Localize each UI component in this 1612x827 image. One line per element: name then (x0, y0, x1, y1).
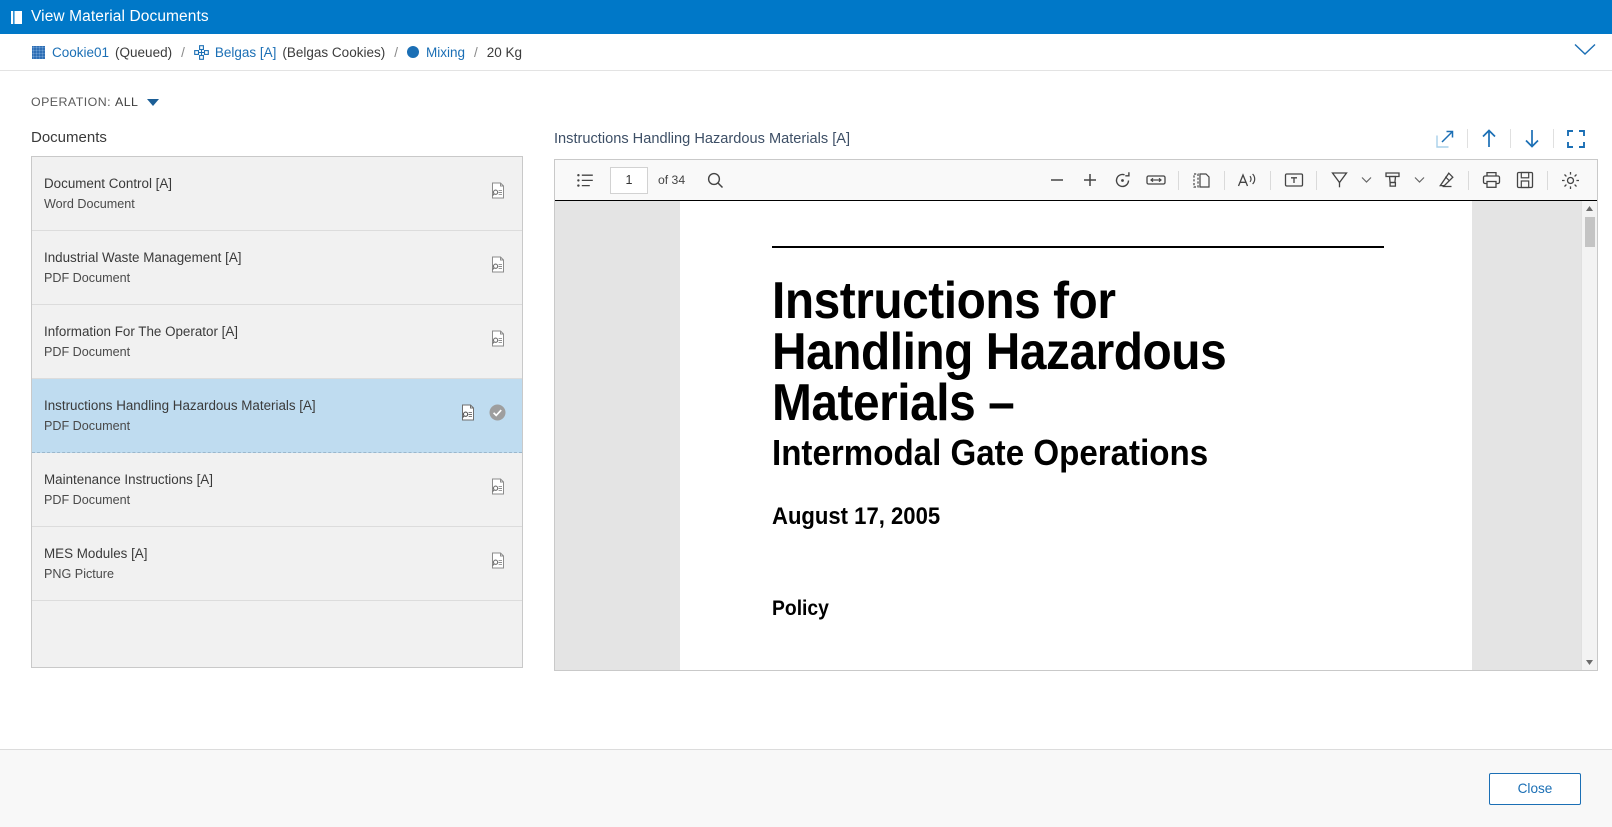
divider (1316, 171, 1317, 190)
scrollbar[interactable] (1581, 201, 1597, 670)
breadcrumb-item-bom[interactable]: Belgas [A] (Belgas Cookies) (194, 45, 385, 60)
documents-panel: Documents Document Control [A] Word Docu… (31, 129, 523, 671)
document-preview-icon[interactable] (460, 404, 476, 426)
eraser-icon[interactable] (1429, 165, 1462, 196)
pdf-viewer: of 34 (554, 159, 1598, 671)
divider (1224, 171, 1225, 190)
scroll-up-icon[interactable] (1585, 201, 1594, 216)
documents-panel-title: Documents (31, 129, 523, 146)
zoom-out-icon[interactable] (1040, 165, 1073, 196)
open-external-icon[interactable] (1423, 130, 1467, 148)
document-preview-icon[interactable] (490, 330, 506, 352)
read-aloud-icon[interactable] (1231, 165, 1264, 196)
caret-down-icon[interactable] (147, 99, 159, 106)
breadcrumb-separator-1: / (181, 45, 185, 60)
document-name: Document Control [A] (44, 176, 490, 191)
breadcrumb-link-bom[interactable]: Belgas [A] (215, 45, 277, 60)
list-item[interactable]: Information For The Operator [A] PDF Doc… (32, 305, 522, 379)
rotate-icon[interactable] (1106, 165, 1139, 196)
document-type: PDF Document (44, 271, 490, 285)
fullscreen-icon[interactable] (1554, 130, 1598, 148)
document-name: Information For The Operator [A] (44, 324, 490, 339)
document-name: Instructions Handling Hazardous Material… (44, 398, 460, 413)
document-preview-icon[interactable] (490, 478, 506, 500)
pdf-subheading: Intermodal Gate Operations (772, 435, 1361, 471)
scrollbar-thumb[interactable] (1585, 217, 1595, 247)
list-item[interactable]: Document Control [A] Word Document (32, 157, 522, 231)
bom-structure-icon (194, 45, 209, 60)
pdf-date: August 17, 2005 (772, 503, 1361, 531)
scroll-down-icon[interactable] (1585, 655, 1594, 670)
operation-dot-icon (407, 46, 419, 58)
document-type: Word Document (44, 197, 490, 211)
page-total-label: of 34 (658, 173, 685, 187)
arrow-down-icon[interactable] (1511, 129, 1553, 148)
pdf-heading-line-2: Handling Hazardous (772, 327, 1361, 378)
pdf-page: Instructions for Handling Hazardous Mate… (680, 201, 1472, 670)
page-title: Instructions Handling Hazardous Material… (554, 131, 1423, 147)
divider (1270, 171, 1271, 190)
save-icon[interactable] (1508, 165, 1541, 196)
add-text-icon[interactable] (1277, 165, 1310, 196)
document-type: PDF Document (44, 419, 460, 433)
document-name: Maintenance Instructions [A] (44, 472, 490, 487)
breadcrumb-status-material: (Queued) (115, 45, 172, 60)
window-title-bar: View Material Documents (0, 0, 1612, 34)
material-square-icon (32, 46, 45, 59)
highlight-color-chevron-icon[interactable] (1409, 165, 1429, 196)
pdf-toolbar: of 34 (555, 160, 1597, 201)
document-type: PDF Document (44, 345, 490, 359)
settings-gear-icon[interactable] (1554, 165, 1587, 196)
breadcrumb-item-operation[interactable]: Mixing (407, 45, 465, 60)
document-type: PDF Document (44, 493, 490, 507)
document-preview-icon[interactable] (490, 182, 506, 204)
document-icon (10, 10, 24, 25)
chevron-down-icon[interactable] (1574, 43, 1596, 61)
list-item[interactable]: Industrial Waste Management [A] PDF Docu… (32, 231, 522, 305)
document-type: PNG Picture (44, 567, 490, 581)
list-item[interactable]: MES Modules [A] PNG Picture (32, 527, 522, 601)
operation-filter[interactable]: OPERATION: ALL (0, 71, 1612, 109)
list-item[interactable]: Instructions Handling Hazardous Material… (32, 379, 522, 453)
operation-filter-value: ALL (115, 95, 138, 109)
main-content: Documents Document Control [A] Word Docu… (0, 129, 1612, 671)
viewer-panel: Instructions Handling Hazardous Material… (554, 129, 1598, 671)
breadcrumb-quantity: 20 Kg (487, 45, 522, 60)
divider (1547, 171, 1548, 190)
breadcrumb-link-operation[interactable]: Mixing (426, 45, 465, 60)
fit-to-width-icon[interactable] (1139, 165, 1172, 196)
breadcrumb: Cookie01 (Queued) / Belgas [A] (Belgas C… (0, 34, 1612, 71)
pdf-page-area[interactable]: Instructions for Handling Hazardous Mate… (555, 201, 1597, 670)
dialog-footer: Close (0, 749, 1612, 827)
operation-filter-label: OPERATION: (31, 95, 111, 109)
breadcrumb-item-quantity: 20 Kg (487, 45, 522, 60)
breadcrumb-link-material[interactable]: Cookie01 (52, 45, 109, 60)
document-name: Industrial Waste Management [A] (44, 250, 490, 265)
page-number-input[interactable] (610, 167, 648, 194)
list-item[interactable]: Maintenance Instructions [A] PDF Documen… (32, 453, 522, 527)
pdf-horizontal-rule (772, 246, 1384, 248)
check-circle-icon (489, 404, 506, 426)
pdf-section-heading: Policy (772, 597, 1361, 621)
breadcrumb-item-material[interactable]: Cookie01 (Queued) (32, 45, 172, 60)
breadcrumb-desc-bom: (Belgas Cookies) (282, 45, 385, 60)
pdf-heading-line-1: Instructions for (772, 276, 1361, 327)
search-icon[interactable] (699, 165, 732, 196)
viewer-header-actions (1423, 129, 1598, 148)
breadcrumb-separator-3: / (474, 45, 478, 60)
highlighter-icon[interactable] (1376, 165, 1409, 196)
window-title: View Material Documents (31, 8, 209, 26)
document-name: MES Modules [A] (44, 546, 490, 561)
document-preview-icon[interactable] (490, 256, 506, 278)
print-icon[interactable] (1475, 165, 1508, 196)
page-view-icon[interactable] (1185, 165, 1218, 196)
pdf-heading-line-3: Materials – (772, 378, 1361, 429)
viewer-header: Instructions Handling Hazardous Material… (554, 129, 1598, 148)
breadcrumb-separator-2: / (394, 45, 398, 60)
documents-list[interactable]: Document Control [A] Word Document Indus… (31, 156, 523, 668)
arrow-up-icon[interactable] (1468, 129, 1510, 148)
zoom-in-icon[interactable] (1073, 165, 1106, 196)
divider (1178, 171, 1179, 190)
table-of-contents-icon[interactable] (569, 165, 602, 196)
divider (1468, 171, 1469, 190)
document-preview-icon[interactable] (490, 552, 506, 574)
pen-color-chevron-icon[interactable] (1356, 165, 1376, 196)
close-button[interactable]: Close (1489, 773, 1581, 805)
draw-pen-icon[interactable] (1323, 165, 1356, 196)
